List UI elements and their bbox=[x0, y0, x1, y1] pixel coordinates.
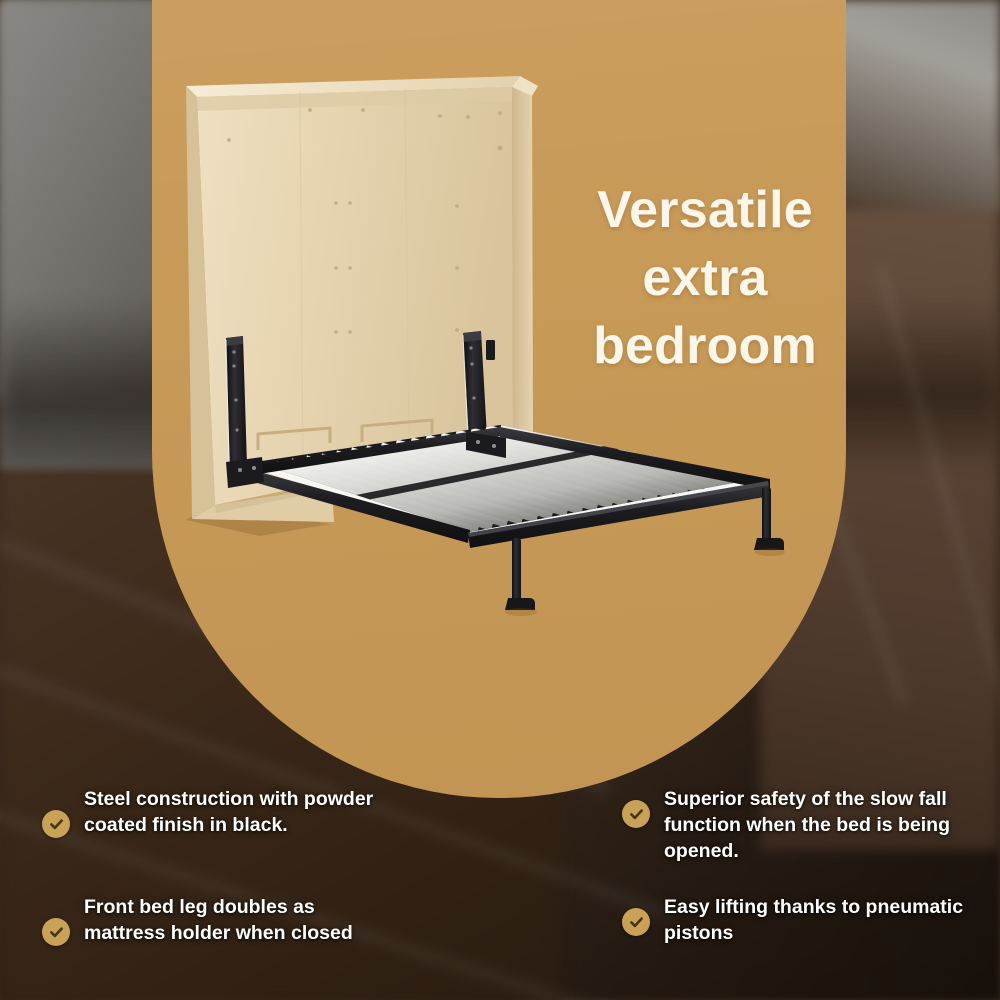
feature-text: Superior safety of the slow fall functio… bbox=[664, 786, 964, 864]
feature-text: Easy lifting thanks to pneumatic pistons bbox=[664, 894, 974, 946]
check-circle-icon bbox=[42, 918, 70, 946]
headline-line-1: Versatile bbox=[540, 176, 870, 244]
feature-item: Easy lifting thanks to pneumatic pistons bbox=[622, 894, 1000, 980]
check-circle-icon bbox=[622, 800, 650, 828]
bed-leg-front bbox=[505, 538, 535, 610]
feature-item: Superior safety of the slow fall functio… bbox=[622, 786, 1000, 894]
feature-text: Front bed leg doubles as mattress holder… bbox=[84, 894, 394, 946]
check-circle-icon bbox=[622, 908, 650, 936]
cabinet-right-side bbox=[512, 87, 533, 445]
feature-item: Front bed leg doubles as mattress holder… bbox=[42, 894, 622, 980]
leg-shadow bbox=[505, 608, 537, 616]
check-circle-icon bbox=[42, 810, 70, 838]
cabinet-hardware-block bbox=[486, 340, 495, 360]
leg-shadow bbox=[755, 548, 785, 556]
headline-line-3: bedroom bbox=[540, 312, 870, 380]
headline-line-2: extra bbox=[540, 244, 870, 312]
feature-item: Steel construction with powder coated fi… bbox=[42, 786, 622, 894]
feature-text: Steel construction with powder coated fi… bbox=[84, 786, 384, 838]
feature-list: Steel construction with powder coated fi… bbox=[0, 786, 1000, 1000]
headline: Versatile extra bedroom bbox=[540, 176, 870, 380]
